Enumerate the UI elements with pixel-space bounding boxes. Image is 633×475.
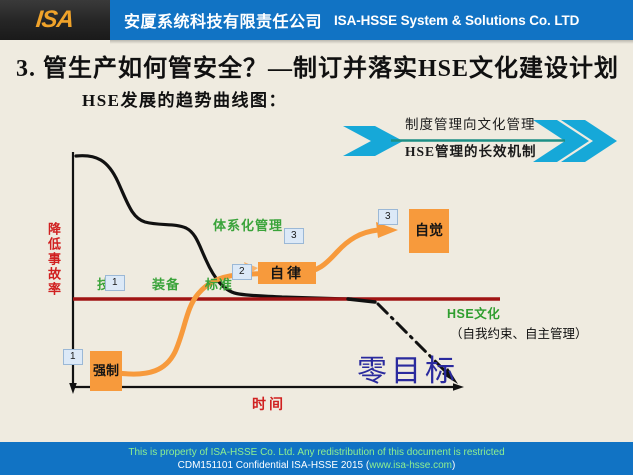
label-systematic-management: 体系化管理 <box>213 215 283 234</box>
stage-chip-2: 2 <box>232 264 252 280</box>
stage-box-self-discipline: 自律 <box>258 262 316 284</box>
stage-box-self-awareness: 自觉 <box>409 209 449 253</box>
y-axis-label: 降低事故率 <box>38 222 60 297</box>
footer-confidential: CDM151101 Confidential ISA-HSSE 2015 ( <box>178 460 370 471</box>
company-name-cn: 安厦系统科技有限责任公司 <box>124 8 322 32</box>
isa-logo-text: ISA <box>35 6 75 34</box>
company-name-en: ISA-HSSE System & Solutions Co. LTD <box>334 13 579 28</box>
stage-box-force: 强制 <box>90 351 122 391</box>
logo: ISA <box>0 0 110 40</box>
label-hse-culture-sub: （自我约束、自主管理） <box>450 323 588 342</box>
header-shadow <box>110 40 633 44</box>
footer-line-2: CDM151101 Confidential ISA-HSSE 2015 (ww… <box>178 459 456 472</box>
label-equipment: 装备 <box>152 274 180 293</box>
stage-chip-3-high: 3 <box>378 209 398 225</box>
x-axis-label: 时间 <box>252 394 286 414</box>
header-title-bar: 安厦系统科技有限责任公司 ISA-HSSE System & Solutions… <box>110 0 633 40</box>
label-zero-goal: 零目标 <box>357 346 459 390</box>
series-maturity <box>118 230 378 374</box>
stage-chip-1-low: 1 <box>63 349 83 365</box>
footer: This is property of ISA-HSSE Co. Ltd. An… <box>0 442 633 475</box>
stage-chip-3-mid: 3 <box>284 228 304 244</box>
footer-paren-close: ) <box>452 460 455 471</box>
stage-chip-1-mid: 1 <box>105 275 125 291</box>
page-subtitle: HSE发展的趋势曲线图： <box>82 86 287 111</box>
label-hse-culture: HSE文化 <box>447 303 500 322</box>
page-title: 3. 管生产如何管安全？—制订并落实HSE文化建设计划 <box>16 48 619 83</box>
footer-website[interactable]: www.isa-hsse.com <box>369 460 452 471</box>
footer-line-1: This is property of ISA-HSSE Co. Ltd. An… <box>128 446 504 459</box>
label-standard: 标准 <box>205 274 233 293</box>
